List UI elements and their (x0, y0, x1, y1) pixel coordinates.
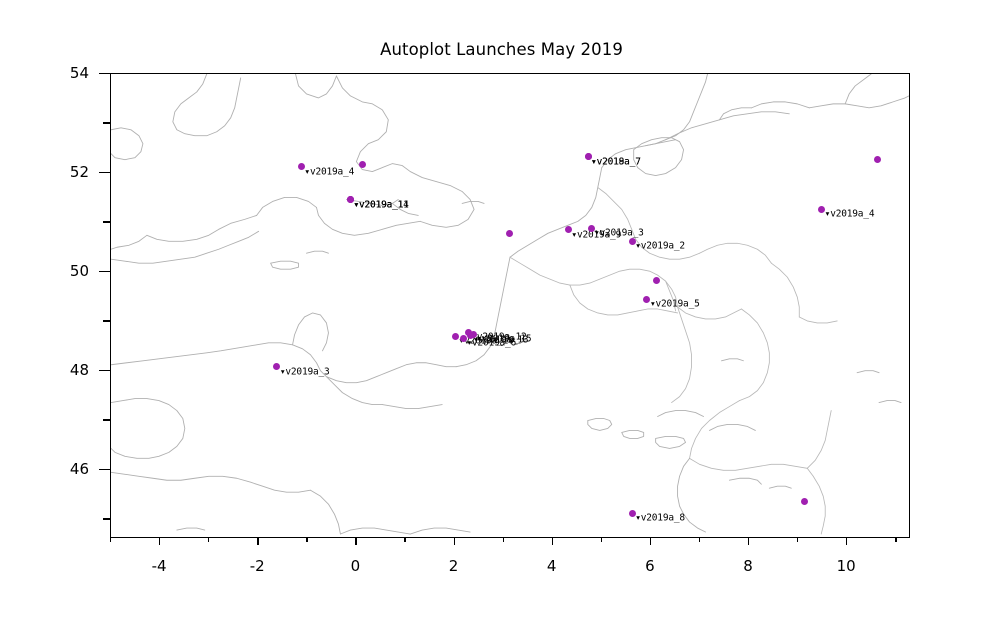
data-point-marker (653, 277, 660, 284)
y-axis-tick-major (99, 271, 110, 272)
x-axis-tick-label: 6 (645, 557, 655, 575)
data-point-label: ▾v2019a_15 (476, 334, 531, 345)
y-axis-tick-minor (103, 221, 110, 222)
x-axis-tick-minor (404, 538, 405, 542)
y-axis-tick-major (99, 172, 110, 173)
x-axis-tick-major (355, 538, 356, 545)
x-axis-tick-label: -2 (250, 557, 265, 575)
y-axis-tick-minor (103, 122, 110, 123)
y-axis-tick-label: 46 (70, 460, 89, 478)
y-axis-tick-label: 48 (70, 361, 89, 379)
data-point-marker (359, 161, 366, 168)
x-axis-tick-minor (699, 538, 700, 542)
x-axis-tick-label: 8 (743, 557, 753, 575)
x-axis-tick-label: -4 (152, 557, 167, 575)
x-axis-tick-minor (110, 538, 111, 542)
y-axis-tick-label: 50 (70, 262, 89, 280)
figure-canvas: Autoplot Launches May 2019 (0, 0, 1003, 633)
data-points-layer: ▾v2019a_4▾v2019a_11▾v2019a_1▾v2019a_14▾v… (111, 74, 909, 537)
x-axis-tick-label: 10 (837, 557, 856, 575)
data-point-label: ▾v2019a_3 (280, 366, 330, 377)
x-axis-tick-minor (208, 538, 209, 542)
data-point-label: ▾v2019a_4 (825, 209, 875, 220)
data-point-label: ▾v2019a_2 (635, 241, 685, 252)
x-axis-tick-label: 2 (449, 557, 459, 575)
x-axis-tick-minor (601, 538, 602, 542)
data-point-marker (801, 498, 808, 505)
data-point-label: ▾v2019a_3 (594, 228, 644, 239)
page-title: Autoplot Launches May 2019 (0, 40, 1003, 59)
x-axis-tick-label: 0 (351, 557, 361, 575)
y-axis-tick-label: 52 (70, 163, 89, 181)
x-axis-tick-minor (797, 538, 798, 542)
y-axis-tick-minor (103, 518, 110, 519)
x-axis-tick-major (454, 538, 455, 545)
x-axis-tick-minor (503, 538, 504, 542)
data-point-label: ▾v2019a_5 (650, 299, 700, 310)
data-point-marker (506, 230, 513, 237)
y-axis-tick-major (99, 469, 110, 470)
x-axis-tick-major (552, 538, 553, 545)
x-axis-tick-major (748, 538, 749, 545)
data-point-label: ▾v2019a_7 (591, 156, 641, 167)
x-axis-tick-major (846, 538, 847, 545)
data-point-label: ▾v2019a_4 (304, 166, 354, 177)
data-point-label: ▾v2019a_14 (354, 199, 409, 210)
y-axis-tick-major (99, 73, 110, 74)
y-axis-tick-label: 54 (70, 64, 89, 82)
x-axis-tick-label: 4 (547, 557, 557, 575)
y-axis-tick-major (99, 370, 110, 371)
x-axis-tick-minor (895, 538, 896, 542)
data-point-label: ▾v2019a_8 (635, 513, 685, 524)
x-axis-tick-major (650, 538, 651, 545)
y-axis-tick-minor (103, 320, 110, 321)
x-axis-tick-major (159, 538, 160, 545)
y-axis-tick-minor (103, 419, 110, 420)
x-axis-tick-minor (306, 538, 307, 542)
data-point-marker (874, 156, 881, 163)
scatter-plot-axes: ▾v2019a_4▾v2019a_11▾v2019a_1▾v2019a_14▾v… (110, 73, 910, 538)
x-axis-tick-major (257, 538, 258, 545)
